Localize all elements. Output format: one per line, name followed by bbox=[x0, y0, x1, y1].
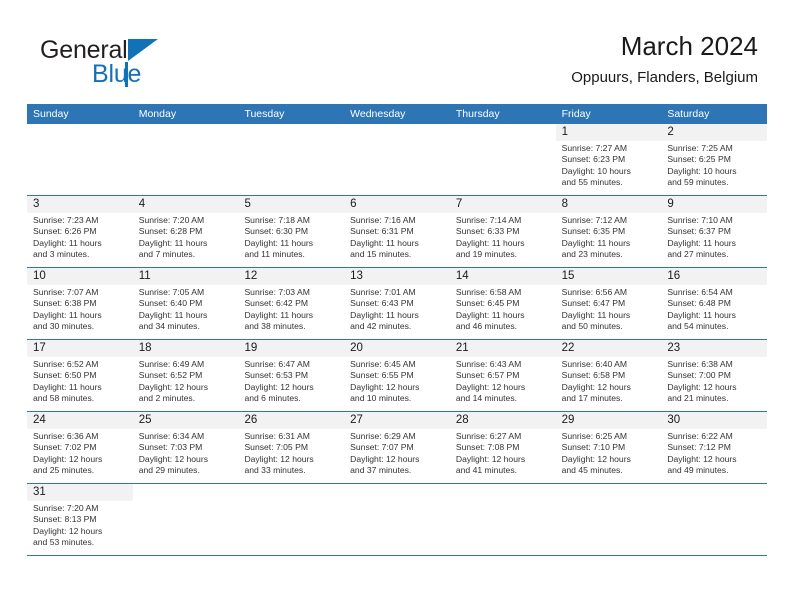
day-detail-line: Sunset: 6:42 PM bbox=[244, 298, 340, 309]
day-details: Sunrise: 7:01 AMSunset: 6:43 PMDaylight:… bbox=[344, 285, 450, 332]
day-detail-line: Sunset: 6:30 PM bbox=[244, 226, 340, 237]
day-detail-line: and 23 minutes. bbox=[562, 249, 658, 260]
day-detail-line: Sunrise: 6:45 AM bbox=[350, 359, 446, 370]
day-detail-line: Sunrise: 6:34 AM bbox=[139, 431, 235, 442]
day-detail-line: Daylight: 12 hours bbox=[667, 382, 763, 393]
day-detail-line: Sunset: 6:55 PM bbox=[350, 370, 446, 381]
day-number: 17 bbox=[27, 340, 133, 357]
day-number: 5 bbox=[238, 196, 344, 213]
day-detail-line: and 42 minutes. bbox=[350, 321, 446, 332]
day-detail-line: Daylight: 12 hours bbox=[456, 454, 552, 465]
day-detail-line: Sunset: 6:48 PM bbox=[667, 298, 763, 309]
day-cell-empty bbox=[344, 124, 450, 195]
day-number: 21 bbox=[450, 340, 556, 357]
calendar-week-row: 1Sunrise: 7:27 AMSunset: 6:23 PMDaylight… bbox=[27, 124, 767, 196]
day-detail-line: Sunrise: 7:16 AM bbox=[350, 215, 446, 226]
day-detail-line: Daylight: 12 hours bbox=[456, 382, 552, 393]
day-number bbox=[133, 124, 239, 141]
day-detail-line: Sunrise: 7:14 AM bbox=[456, 215, 552, 226]
day-details bbox=[450, 501, 556, 503]
weekday-header-sunday: Sunday bbox=[27, 104, 133, 124]
day-detail-line: and 59 minutes. bbox=[667, 177, 763, 188]
day-detail-line: Sunset: 7:00 PM bbox=[667, 370, 763, 381]
day-cell-empty bbox=[133, 124, 239, 195]
day-detail-line: Sunset: 7:12 PM bbox=[667, 442, 763, 453]
weekday-header-friday: Friday bbox=[556, 104, 662, 124]
day-detail-line: Sunrise: 6:47 AM bbox=[244, 359, 340, 370]
day-detail-line: and 34 minutes. bbox=[139, 321, 235, 332]
weekday-header-tuesday: Tuesday bbox=[238, 104, 344, 124]
day-detail-line: Daylight: 12 hours bbox=[33, 454, 129, 465]
day-details: Sunrise: 6:49 AMSunset: 6:52 PMDaylight:… bbox=[133, 357, 239, 404]
day-cell-13[interactable]: 13Sunrise: 7:01 AMSunset: 6:43 PMDayligh… bbox=[344, 268, 450, 339]
day-detail-line: Daylight: 12 hours bbox=[562, 382, 658, 393]
day-details: Sunrise: 6:54 AMSunset: 6:48 PMDaylight:… bbox=[661, 285, 767, 332]
day-cell-1[interactable]: 1Sunrise: 7:27 AMSunset: 6:23 PMDaylight… bbox=[556, 124, 662, 195]
day-details: Sunrise: 6:38 AMSunset: 7:00 PMDaylight:… bbox=[661, 357, 767, 404]
page-header: General Blue March 2024 Oppuurs, Flander… bbox=[0, 0, 792, 100]
day-detail-line: Sunrise: 6:40 AM bbox=[562, 359, 658, 370]
day-cell-empty bbox=[556, 484, 662, 555]
page-location: Oppuurs, Flanders, Belgium bbox=[571, 70, 758, 87]
day-detail-line: Sunset: 7:10 PM bbox=[562, 442, 658, 453]
day-detail-line: and 29 minutes. bbox=[139, 465, 235, 476]
day-cell-2[interactable]: 2Sunrise: 7:25 AMSunset: 6:25 PMDaylight… bbox=[661, 124, 767, 195]
day-cell-19[interactable]: 19Sunrise: 6:47 AMSunset: 6:53 PMDayligh… bbox=[238, 340, 344, 411]
day-details: Sunrise: 7:25 AMSunset: 6:25 PMDaylight:… bbox=[661, 141, 767, 188]
day-cell-empty bbox=[450, 484, 556, 555]
day-detail-line: Sunset: 6:26 PM bbox=[33, 226, 129, 237]
day-detail-line: Sunrise: 7:23 AM bbox=[33, 215, 129, 226]
day-number: 30 bbox=[661, 412, 767, 429]
weekday-header-saturday: Saturday bbox=[661, 104, 767, 124]
day-detail-line: Sunrise: 6:54 AM bbox=[667, 287, 763, 298]
day-cell-15[interactable]: 15Sunrise: 6:56 AMSunset: 6:47 PMDayligh… bbox=[556, 268, 662, 339]
day-detail-line: Daylight: 12 hours bbox=[139, 382, 235, 393]
day-cell-4[interactable]: 4Sunrise: 7:20 AMSunset: 6:28 PMDaylight… bbox=[133, 196, 239, 267]
logo-text-blue: Blue bbox=[92, 62, 141, 87]
day-number: 31 bbox=[27, 484, 133, 501]
day-detail-line: Daylight: 12 hours bbox=[244, 382, 340, 393]
day-number bbox=[133, 484, 239, 501]
day-detail-line: Sunrise: 7:20 AM bbox=[139, 215, 235, 226]
day-details: Sunrise: 6:36 AMSunset: 7:02 PMDaylight:… bbox=[27, 429, 133, 476]
day-number: 10 bbox=[27, 268, 133, 285]
day-number: 18 bbox=[133, 340, 239, 357]
day-detail-line: Daylight: 11 hours bbox=[562, 310, 658, 321]
day-number: 4 bbox=[133, 196, 239, 213]
weekday-header-row: SundayMondayTuesdayWednesdayThursdayFrid… bbox=[27, 104, 767, 124]
day-number: 15 bbox=[556, 268, 662, 285]
day-detail-line: Daylight: 11 hours bbox=[244, 310, 340, 321]
day-number: 16 bbox=[661, 268, 767, 285]
day-details: Sunrise: 6:43 AMSunset: 6:57 PMDaylight:… bbox=[450, 357, 556, 404]
day-detail-line: Sunset: 6:37 PM bbox=[667, 226, 763, 237]
day-cell-6[interactable]: 6Sunrise: 7:16 AMSunset: 6:31 PMDaylight… bbox=[344, 196, 450, 267]
day-cell-9[interactable]: 9Sunrise: 7:10 AMSunset: 6:37 PMDaylight… bbox=[661, 196, 767, 267]
day-details: Sunrise: 7:03 AMSunset: 6:42 PMDaylight:… bbox=[238, 285, 344, 332]
day-detail-line: Sunrise: 7:20 AM bbox=[33, 503, 129, 514]
day-number bbox=[344, 484, 450, 501]
day-detail-line: Sunset: 6:28 PM bbox=[139, 226, 235, 237]
day-detail-line: Sunset: 6:45 PM bbox=[456, 298, 552, 309]
day-detail-line: Sunrise: 6:56 AM bbox=[562, 287, 658, 298]
day-number: 20 bbox=[344, 340, 450, 357]
day-cell-empty bbox=[238, 484, 344, 555]
day-detail-line: Sunrise: 6:49 AM bbox=[139, 359, 235, 370]
day-details: Sunrise: 7:14 AMSunset: 6:33 PMDaylight:… bbox=[450, 213, 556, 260]
day-number: 22 bbox=[556, 340, 662, 357]
day-cell-8[interactable]: 8Sunrise: 7:12 AMSunset: 6:35 PMDaylight… bbox=[556, 196, 662, 267]
day-detail-line: Sunrise: 7:18 AM bbox=[244, 215, 340, 226]
day-detail-line: and 41 minutes. bbox=[456, 465, 552, 476]
day-detail-line: Sunset: 6:57 PM bbox=[456, 370, 552, 381]
day-cell-11[interactable]: 11Sunrise: 7:05 AMSunset: 6:40 PMDayligh… bbox=[133, 268, 239, 339]
day-detail-line: and 58 minutes. bbox=[33, 393, 129, 404]
day-detail-line: Daylight: 10 hours bbox=[562, 166, 658, 177]
day-detail-line: and 7 minutes. bbox=[139, 249, 235, 260]
day-details bbox=[133, 501, 239, 503]
day-number: 8 bbox=[556, 196, 662, 213]
calendar-page: General Blue March 2024 Oppuurs, Flander… bbox=[0, 0, 792, 612]
day-detail-line: Sunrise: 7:12 AM bbox=[562, 215, 658, 226]
day-cell-empty bbox=[238, 124, 344, 195]
day-number: 27 bbox=[344, 412, 450, 429]
day-number: 23 bbox=[661, 340, 767, 357]
day-detail-line: Daylight: 11 hours bbox=[244, 238, 340, 249]
day-detail-line: Daylight: 12 hours bbox=[33, 526, 129, 537]
weekday-header-thursday: Thursday bbox=[450, 104, 556, 124]
day-cell-21[interactable]: 21Sunrise: 6:43 AMSunset: 6:57 PMDayligh… bbox=[450, 340, 556, 411]
day-detail-line: Daylight: 11 hours bbox=[33, 310, 129, 321]
day-details bbox=[238, 501, 344, 503]
day-details: Sunrise: 7:10 AMSunset: 6:37 PMDaylight:… bbox=[661, 213, 767, 260]
day-details bbox=[556, 501, 662, 503]
general-blue-logo[interactable]: General Blue bbox=[34, 38, 264, 92]
day-detail-line: Sunset: 6:25 PM bbox=[667, 154, 763, 165]
day-details: Sunrise: 7:12 AMSunset: 6:35 PMDaylight:… bbox=[556, 213, 662, 260]
day-detail-line: Sunrise: 7:10 AM bbox=[667, 215, 763, 226]
day-detail-line: Sunrise: 6:31 AM bbox=[244, 431, 340, 442]
day-detail-line: Sunset: 7:02 PM bbox=[33, 442, 129, 453]
day-cell-empty bbox=[27, 124, 133, 195]
day-cell-26[interactable]: 26Sunrise: 6:31 AMSunset: 7:05 PMDayligh… bbox=[238, 412, 344, 483]
day-detail-line: Sunrise: 7:25 AM bbox=[667, 143, 763, 154]
day-detail-line: Sunrise: 6:38 AM bbox=[667, 359, 763, 370]
day-detail-line: Sunrise: 7:01 AM bbox=[350, 287, 446, 298]
day-detail-line: and 11 minutes. bbox=[244, 249, 340, 260]
day-number: 29 bbox=[556, 412, 662, 429]
day-number bbox=[238, 124, 344, 141]
day-detail-line: and 45 minutes. bbox=[562, 465, 658, 476]
day-number bbox=[450, 124, 556, 141]
day-detail-line: and 38 minutes. bbox=[244, 321, 340, 332]
day-detail-line: and 19 minutes. bbox=[456, 249, 552, 260]
day-detail-line: Sunrise: 6:36 AM bbox=[33, 431, 129, 442]
day-number: 12 bbox=[238, 268, 344, 285]
day-details: Sunrise: 6:29 AMSunset: 7:07 PMDaylight:… bbox=[344, 429, 450, 476]
day-cell-30[interactable]: 30Sunrise: 6:22 AMSunset: 7:12 PMDayligh… bbox=[661, 412, 767, 483]
calendar-week-row: 31Sunrise: 7:20 AMSunset: 8:13 PMDayligh… bbox=[27, 484, 767, 556]
day-details: Sunrise: 7:16 AMSunset: 6:31 PMDaylight:… bbox=[344, 213, 450, 260]
day-detail-line: Daylight: 11 hours bbox=[456, 238, 552, 249]
calendar-weeks: 1Sunrise: 7:27 AMSunset: 6:23 PMDaylight… bbox=[27, 124, 767, 556]
day-details: Sunrise: 7:20 AMSunset: 6:28 PMDaylight:… bbox=[133, 213, 239, 260]
day-cell-24[interactable]: 24Sunrise: 6:36 AMSunset: 7:02 PMDayligh… bbox=[27, 412, 133, 483]
day-number: 1 bbox=[556, 124, 662, 141]
day-details: Sunrise: 6:56 AMSunset: 6:47 PMDaylight:… bbox=[556, 285, 662, 332]
day-detail-line: Sunrise: 7:03 AM bbox=[244, 287, 340, 298]
day-cell-12[interactable]: 12Sunrise: 7:03 AMSunset: 6:42 PMDayligh… bbox=[238, 268, 344, 339]
day-number: 19 bbox=[238, 340, 344, 357]
day-details: Sunrise: 6:45 AMSunset: 6:55 PMDaylight:… bbox=[344, 357, 450, 404]
day-cell-10[interactable]: 10Sunrise: 7:07 AMSunset: 6:38 PMDayligh… bbox=[27, 268, 133, 339]
day-number: 7 bbox=[450, 196, 556, 213]
day-detail-line: and 37 minutes. bbox=[350, 465, 446, 476]
day-number bbox=[556, 484, 662, 501]
day-details bbox=[450, 141, 556, 143]
day-detail-line: and 17 minutes. bbox=[562, 393, 658, 404]
day-detail-line: Sunset: 7:05 PM bbox=[244, 442, 340, 453]
day-cell-23[interactable]: 23Sunrise: 6:38 AMSunset: 7:00 PMDayligh… bbox=[661, 340, 767, 411]
day-detail-line: Sunrise: 6:22 AM bbox=[667, 431, 763, 442]
day-number: 11 bbox=[133, 268, 239, 285]
day-cell-22[interactable]: 22Sunrise: 6:40 AMSunset: 6:58 PMDayligh… bbox=[556, 340, 662, 411]
day-details: Sunrise: 6:22 AMSunset: 7:12 PMDaylight:… bbox=[661, 429, 767, 476]
day-detail-line: Sunrise: 6:25 AM bbox=[562, 431, 658, 442]
day-detail-line: Sunset: 6:58 PM bbox=[562, 370, 658, 381]
day-detail-line: and 33 minutes. bbox=[244, 465, 340, 476]
day-detail-line: and 2 minutes. bbox=[139, 393, 235, 404]
weekday-header-monday: Monday bbox=[133, 104, 239, 124]
calendar-week-row: 17Sunrise: 6:52 AMSunset: 6:50 PMDayligh… bbox=[27, 340, 767, 412]
day-detail-line: Daylight: 11 hours bbox=[456, 310, 552, 321]
day-number: 25 bbox=[133, 412, 239, 429]
day-number bbox=[450, 484, 556, 501]
day-detail-line: Sunrise: 6:43 AM bbox=[456, 359, 552, 370]
day-number: 26 bbox=[238, 412, 344, 429]
day-detail-line: Daylight: 11 hours bbox=[667, 238, 763, 249]
day-number: 6 bbox=[344, 196, 450, 213]
logo-triangle-icon bbox=[128, 39, 158, 61]
day-cell-31[interactable]: 31Sunrise: 7:20 AMSunset: 8:13 PMDayligh… bbox=[27, 484, 133, 555]
day-detail-line: Sunset: 6:35 PM bbox=[562, 226, 658, 237]
day-cell-3[interactable]: 3Sunrise: 7:23 AMSunset: 6:26 PMDaylight… bbox=[27, 196, 133, 267]
day-detail-line: Sunrise: 7:07 AM bbox=[33, 287, 129, 298]
day-details bbox=[133, 141, 239, 143]
day-detail-line: and 55 minutes. bbox=[562, 177, 658, 188]
weekday-header-wednesday: Wednesday bbox=[344, 104, 450, 124]
day-number: 3 bbox=[27, 196, 133, 213]
day-number bbox=[27, 124, 133, 141]
day-detail-line: Sunset: 7:08 PM bbox=[456, 442, 552, 453]
day-detail-line: and 54 minutes. bbox=[667, 321, 763, 332]
day-detail-line: and 30 minutes. bbox=[33, 321, 129, 332]
day-detail-line: and 14 minutes. bbox=[456, 393, 552, 404]
day-detail-line: Daylight: 11 hours bbox=[350, 238, 446, 249]
day-number: 2 bbox=[661, 124, 767, 141]
day-detail-line: Daylight: 12 hours bbox=[139, 454, 235, 465]
day-cell-20[interactable]: 20Sunrise: 6:45 AMSunset: 6:55 PMDayligh… bbox=[344, 340, 450, 411]
day-details: Sunrise: 6:47 AMSunset: 6:53 PMDaylight:… bbox=[238, 357, 344, 404]
day-details: Sunrise: 6:52 AMSunset: 6:50 PMDaylight:… bbox=[27, 357, 133, 404]
day-details: Sunrise: 7:27 AMSunset: 6:23 PMDaylight:… bbox=[556, 141, 662, 188]
day-details bbox=[344, 141, 450, 143]
day-detail-line: Daylight: 12 hours bbox=[350, 454, 446, 465]
day-cell-16[interactable]: 16Sunrise: 6:54 AMSunset: 6:48 PMDayligh… bbox=[661, 268, 767, 339]
day-number bbox=[661, 484, 767, 501]
day-number: 9 bbox=[661, 196, 767, 213]
day-detail-line: Sunset: 7:07 PM bbox=[350, 442, 446, 453]
day-number bbox=[238, 484, 344, 501]
day-details bbox=[344, 501, 450, 503]
day-detail-line: Sunset: 6:23 PM bbox=[562, 154, 658, 165]
day-details: Sunrise: 6:58 AMSunset: 6:45 PMDaylight:… bbox=[450, 285, 556, 332]
day-detail-line: and 6 minutes. bbox=[244, 393, 340, 404]
day-detail-line: and 53 minutes. bbox=[33, 537, 129, 548]
day-detail-line: Sunset: 6:52 PM bbox=[139, 370, 235, 381]
day-detail-line: Sunrise: 6:58 AM bbox=[456, 287, 552, 298]
day-detail-line: Sunset: 6:47 PM bbox=[562, 298, 658, 309]
day-detail-line: Sunrise: 7:05 AM bbox=[139, 287, 235, 298]
title-block: March 2024 Oppuurs, Flanders, Belgium bbox=[571, 32, 758, 86]
day-detail-line: and 3 minutes. bbox=[33, 249, 129, 260]
day-cell-empty bbox=[661, 484, 767, 555]
day-detail-line: Sunset: 7:03 PM bbox=[139, 442, 235, 453]
day-detail-line: Daylight: 12 hours bbox=[244, 454, 340, 465]
calendar-week-row: 24Sunrise: 6:36 AMSunset: 7:02 PMDayligh… bbox=[27, 412, 767, 484]
day-detail-line: and 46 minutes. bbox=[456, 321, 552, 332]
day-detail-line: Sunset: 6:43 PM bbox=[350, 298, 446, 309]
day-cell-empty bbox=[344, 484, 450, 555]
day-number: 13 bbox=[344, 268, 450, 285]
day-detail-line: Daylight: 11 hours bbox=[667, 310, 763, 321]
day-detail-line: Sunrise: 6:27 AM bbox=[456, 431, 552, 442]
day-cell-5[interactable]: 5Sunrise: 7:18 AMSunset: 6:30 PMDaylight… bbox=[238, 196, 344, 267]
day-detail-line: Daylight: 12 hours bbox=[562, 454, 658, 465]
day-details: Sunrise: 6:34 AMSunset: 7:03 PMDaylight:… bbox=[133, 429, 239, 476]
day-detail-line: and 49 minutes. bbox=[667, 465, 763, 476]
day-detail-line: Sunrise: 6:29 AM bbox=[350, 431, 446, 442]
day-details bbox=[238, 141, 344, 143]
day-detail-line: Daylight: 12 hours bbox=[350, 382, 446, 393]
day-detail-line: Daylight: 11 hours bbox=[350, 310, 446, 321]
day-details bbox=[661, 501, 767, 503]
day-cell-29[interactable]: 29Sunrise: 6:25 AMSunset: 7:10 PMDayligh… bbox=[556, 412, 662, 483]
calendar-grid: SundayMondayTuesdayWednesdayThursdayFrid… bbox=[27, 104, 767, 556]
calendar-week-row: 10Sunrise: 7:07 AMSunset: 6:38 PMDayligh… bbox=[27, 268, 767, 340]
day-cell-17[interactable]: 17Sunrise: 6:52 AMSunset: 6:50 PMDayligh… bbox=[27, 340, 133, 411]
day-cell-27[interactable]: 27Sunrise: 6:29 AMSunset: 7:07 PMDayligh… bbox=[344, 412, 450, 483]
calendar-week-row: 3Sunrise: 7:23 AMSunset: 6:26 PMDaylight… bbox=[27, 196, 767, 268]
day-detail-line: and 25 minutes. bbox=[33, 465, 129, 476]
day-details: Sunrise: 7:20 AMSunset: 8:13 PMDaylight:… bbox=[27, 501, 133, 548]
day-detail-line: Sunset: 6:38 PM bbox=[33, 298, 129, 309]
day-cell-empty bbox=[450, 124, 556, 195]
day-detail-line: Daylight: 11 hours bbox=[139, 310, 235, 321]
day-details: Sunrise: 7:18 AMSunset: 6:30 PMDaylight:… bbox=[238, 213, 344, 260]
day-number: 24 bbox=[27, 412, 133, 429]
day-detail-line: Sunrise: 6:52 AM bbox=[33, 359, 129, 370]
day-number bbox=[344, 124, 450, 141]
day-detail-line: and 27 minutes. bbox=[667, 249, 763, 260]
day-number: 14 bbox=[450, 268, 556, 285]
day-details: Sunrise: 6:31 AMSunset: 7:05 PMDaylight:… bbox=[238, 429, 344, 476]
day-details: Sunrise: 7:23 AMSunset: 6:26 PMDaylight:… bbox=[27, 213, 133, 260]
day-detail-line: Sunset: 6:33 PM bbox=[456, 226, 552, 237]
day-cell-25[interactable]: 25Sunrise: 6:34 AMSunset: 7:03 PMDayligh… bbox=[133, 412, 239, 483]
day-details: Sunrise: 7:07 AMSunset: 6:38 PMDaylight:… bbox=[27, 285, 133, 332]
day-detail-line: Daylight: 10 hours bbox=[667, 166, 763, 177]
day-detail-line: Sunrise: 7:27 AM bbox=[562, 143, 658, 154]
day-cell-empty bbox=[133, 484, 239, 555]
day-details bbox=[27, 141, 133, 143]
day-detail-line: and 15 minutes. bbox=[350, 249, 446, 260]
day-number: 28 bbox=[450, 412, 556, 429]
day-details: Sunrise: 6:25 AMSunset: 7:10 PMDaylight:… bbox=[556, 429, 662, 476]
day-detail-line: Sunset: 6:50 PM bbox=[33, 370, 129, 381]
day-detail-line: Daylight: 11 hours bbox=[139, 238, 235, 249]
day-detail-line: Sunset: 6:40 PM bbox=[139, 298, 235, 309]
day-detail-line: Daylight: 12 hours bbox=[667, 454, 763, 465]
day-detail-line: Sunset: 8:13 PM bbox=[33, 514, 129, 525]
day-detail-line: Sunset: 6:31 PM bbox=[350, 226, 446, 237]
day-cell-18[interactable]: 18Sunrise: 6:49 AMSunset: 6:52 PMDayligh… bbox=[133, 340, 239, 411]
day-cell-7[interactable]: 7Sunrise: 7:14 AMSunset: 6:33 PMDaylight… bbox=[450, 196, 556, 267]
day-detail-line: and 50 minutes. bbox=[562, 321, 658, 332]
day-details: Sunrise: 6:27 AMSunset: 7:08 PMDaylight:… bbox=[450, 429, 556, 476]
day-detail-line: Daylight: 11 hours bbox=[562, 238, 658, 249]
day-details: Sunrise: 6:40 AMSunset: 6:58 PMDaylight:… bbox=[556, 357, 662, 404]
day-detail-line: and 21 minutes. bbox=[667, 393, 763, 404]
day-details: Sunrise: 7:05 AMSunset: 6:40 PMDaylight:… bbox=[133, 285, 239, 332]
page-title: March 2024 bbox=[571, 32, 758, 61]
day-detail-line: Daylight: 11 hours bbox=[33, 238, 129, 249]
day-cell-28[interactable]: 28Sunrise: 6:27 AMSunset: 7:08 PMDayligh… bbox=[450, 412, 556, 483]
day-detail-line: Sunset: 6:53 PM bbox=[244, 370, 340, 381]
day-cell-14[interactable]: 14Sunrise: 6:58 AMSunset: 6:45 PMDayligh… bbox=[450, 268, 556, 339]
day-detail-line: Daylight: 11 hours bbox=[33, 382, 129, 393]
day-detail-line: and 10 minutes. bbox=[350, 393, 446, 404]
